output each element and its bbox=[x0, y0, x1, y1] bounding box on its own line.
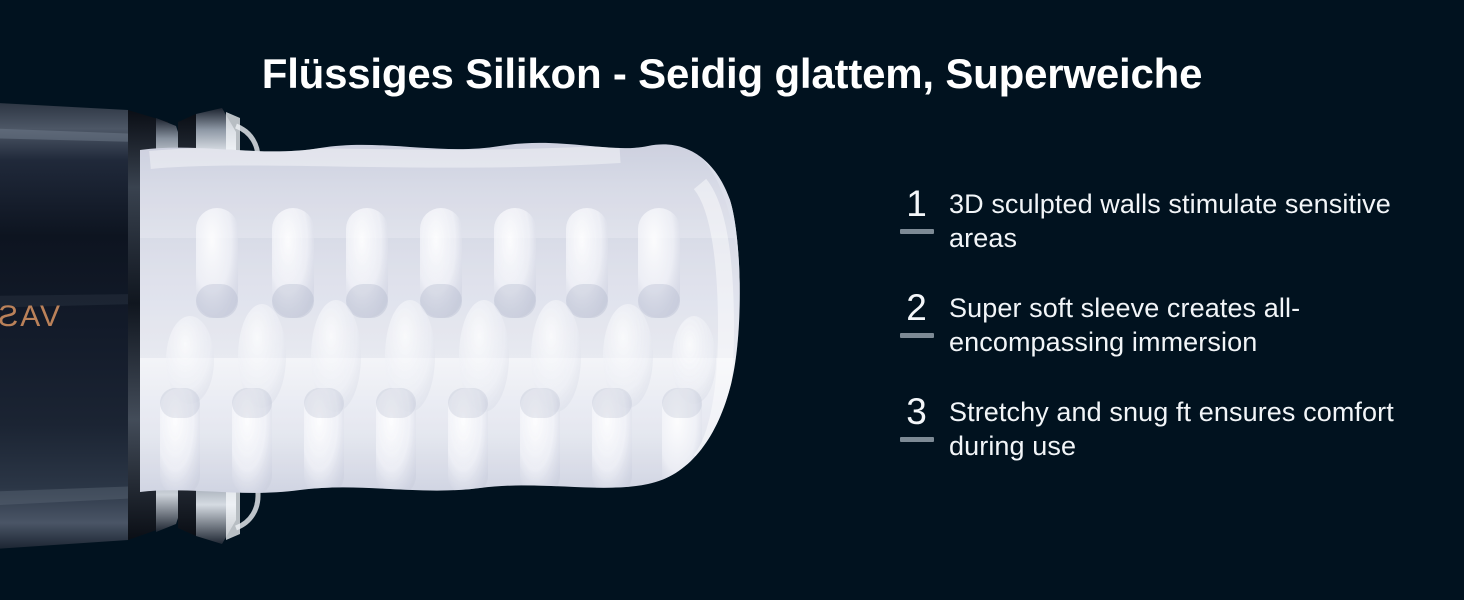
feature-number: 2 bbox=[885, 289, 949, 326]
feature-list: 1 3D sculpted walls stimulate sensitive … bbox=[885, 183, 1395, 463]
feature-number-wrap: 3 bbox=[885, 391, 949, 442]
feature-text: Stretchy and snug ft ensures comfort dur… bbox=[949, 391, 1395, 463]
feature-number-wrap: 2 bbox=[885, 287, 949, 338]
sleeve-texture bbox=[140, 138, 740, 498]
device-case: VAS bbox=[0, 102, 150, 550]
feature-item: 2 Super soft sleeve creates all-encompas… bbox=[885, 287, 1395, 359]
feature-text: 3D sculpted walls stimulate sensitive ar… bbox=[949, 183, 1395, 255]
feature-number-rule bbox=[900, 333, 934, 338]
case-brand-label: VAS bbox=[0, 300, 60, 333]
feature-number: 1 bbox=[885, 185, 949, 222]
banner-title: Flüssiges Silikon - Seidig glattem, Supe… bbox=[0, 50, 1464, 98]
feature-text: Super soft sleeve creates all-encompassi… bbox=[949, 287, 1395, 359]
promo-banner: VAS bbox=[0, 0, 1464, 600]
feature-number: 3 bbox=[885, 393, 949, 430]
feature-item: 1 3D sculpted walls stimulate sensitive … bbox=[885, 183, 1395, 255]
silicone-sleeve bbox=[140, 138, 740, 498]
product-image: VAS bbox=[0, 88, 830, 568]
feature-item: 3 Stretchy and snug ft ensures comfort d… bbox=[885, 391, 1395, 463]
feature-number-rule bbox=[900, 229, 934, 234]
product-illustration: VAS bbox=[0, 88, 830, 568]
feature-number-wrap: 1 bbox=[885, 183, 949, 234]
feature-number-rule bbox=[900, 437, 934, 442]
